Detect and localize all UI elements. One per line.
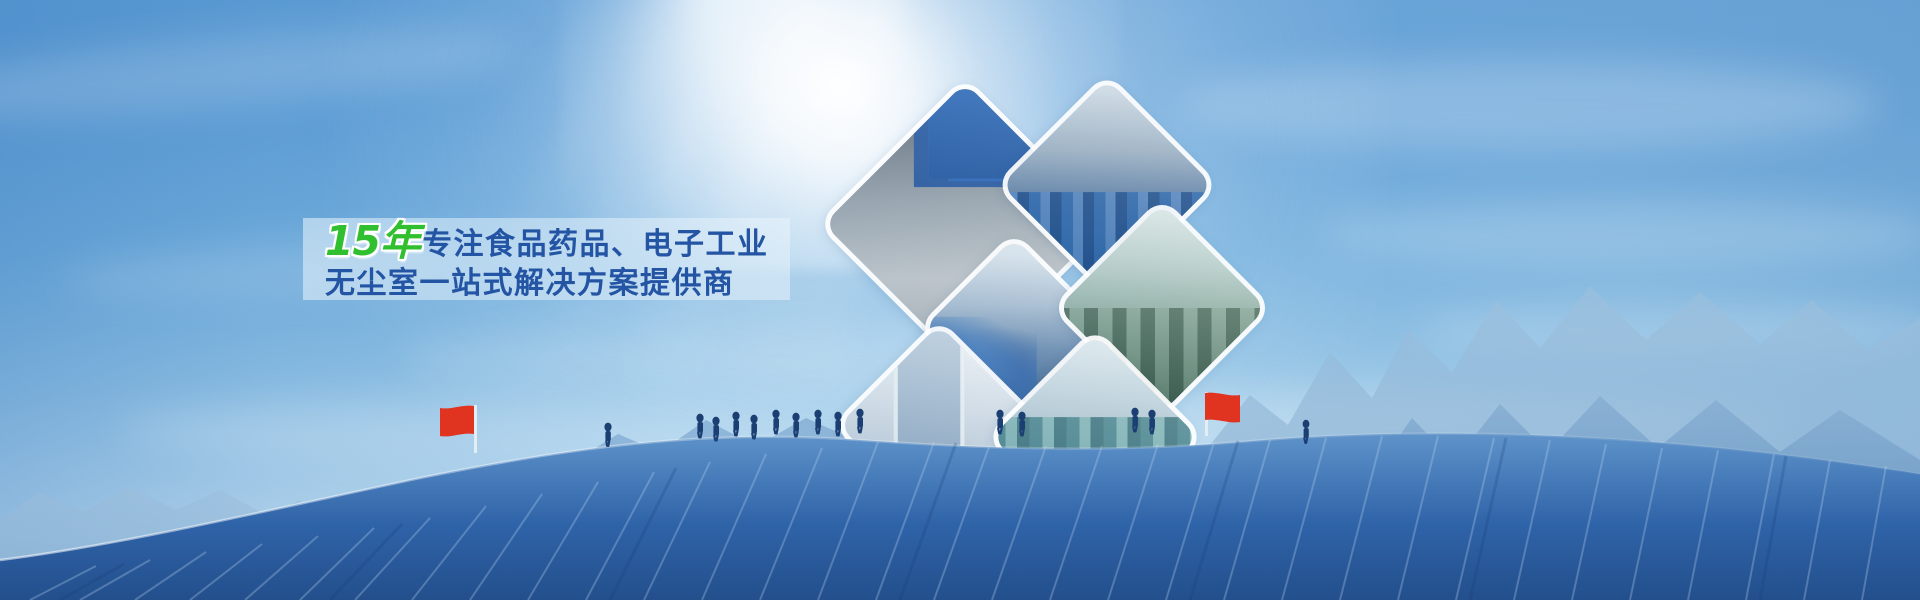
hero-banner: 15年 专注食品药品、电子工业 无尘室一站式解决方案提供商: [0, 0, 1920, 600]
cloud-wisp: [1420, 300, 1920, 360]
diamond-photo-collage: [840, 86, 1280, 466]
headline-line-2: 无尘室一站式解决方案提供商: [325, 269, 790, 299]
headline-panel: 15年 专注食品药品、电子工业 无尘室一站式解决方案提供商: [303, 218, 790, 300]
cloud-wisp: [1320, 200, 1920, 270]
headline-line-1-text: 专注食品药品、电子工业: [422, 230, 769, 260]
headline-line-1: 15年 专注食品药品、电子工业: [325, 220, 790, 261]
years-badge: 15年: [325, 221, 420, 262]
